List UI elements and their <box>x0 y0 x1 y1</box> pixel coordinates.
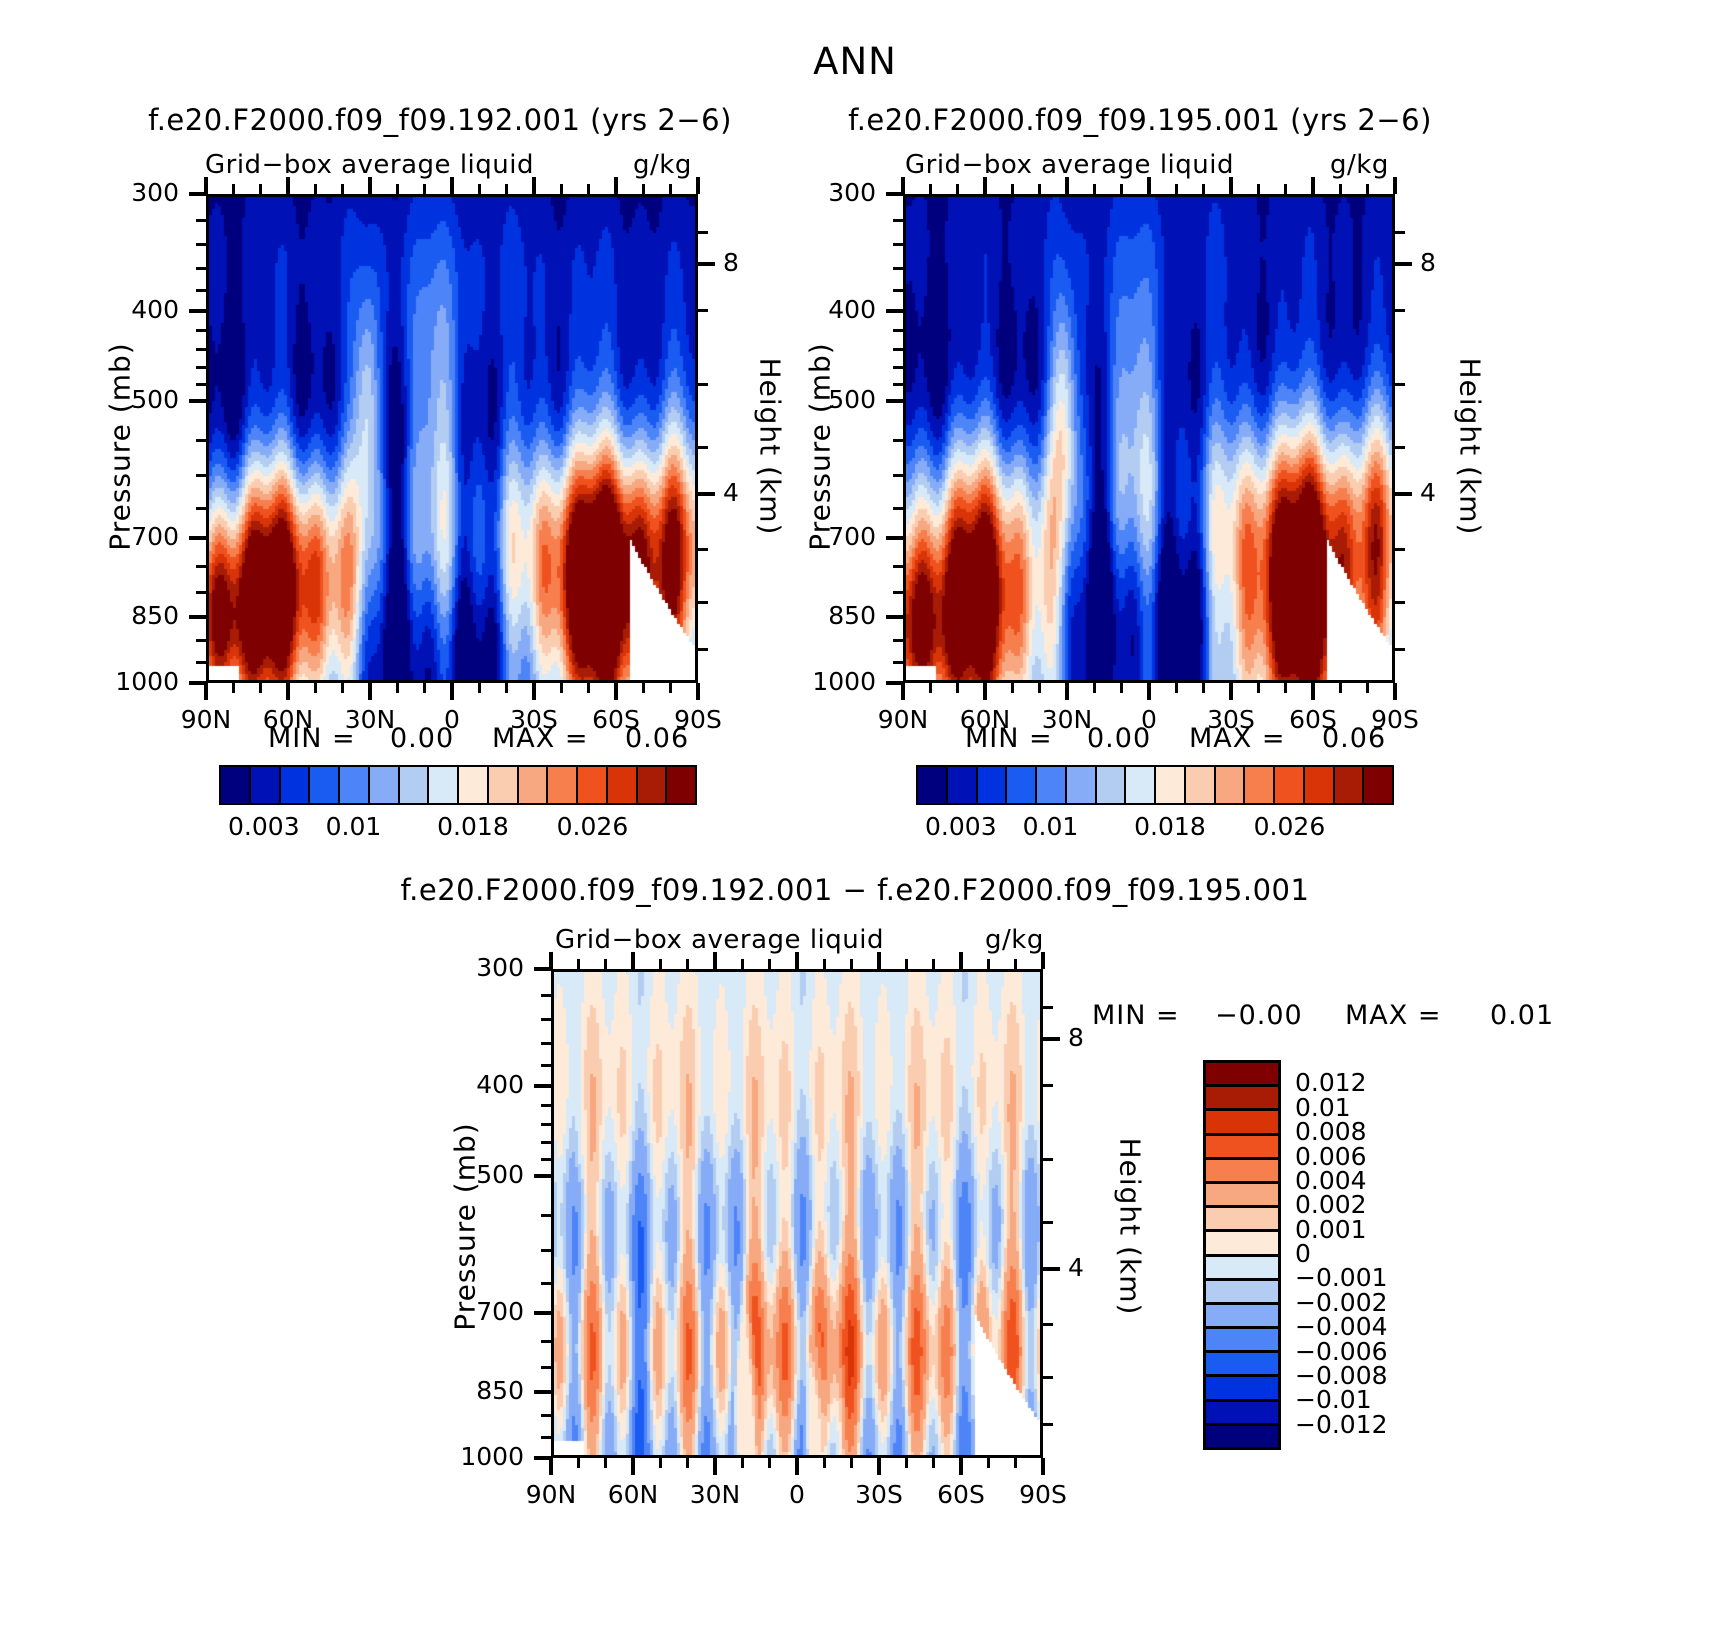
axis-tick <box>534 1084 551 1088</box>
right-panel-min-value: 0.00 <box>1087 723 1151 754</box>
legend-swatch <box>1206 1329 1278 1353</box>
axis-tick <box>893 289 903 292</box>
axis-tick <box>1043 1376 1053 1379</box>
axis-tick <box>1393 683 1397 700</box>
axis-tick <box>396 184 399 194</box>
axis-tick <box>196 267 206 270</box>
axis-tick <box>1311 177 1315 194</box>
axis-tick <box>686 959 689 969</box>
axis-tick <box>823 959 826 969</box>
axis-tick <box>541 1042 551 1045</box>
axis-tick <box>196 439 206 442</box>
axis-tick <box>893 439 903 442</box>
axis-tick <box>1202 184 1205 194</box>
axis-tick <box>1093 683 1096 693</box>
axis-tick <box>450 177 454 194</box>
axis-tick <box>541 1340 551 1343</box>
axis-tick-label: 1000 <box>115 667 179 696</box>
axis-tick <box>741 1458 744 1468</box>
legend-swatch <box>1206 1377 1278 1401</box>
right-panel-min-label: MIN = <box>965 723 1053 754</box>
diff-panel-max-label: MAX = <box>1345 1000 1441 1031</box>
axis-tick <box>893 243 903 246</box>
axis-tick <box>189 536 206 540</box>
left-panel-contour-plot <box>206 194 698 683</box>
axis-tick-label: 0.01 <box>1023 812 1079 841</box>
axis-tick <box>669 184 672 194</box>
axis-tick <box>560 683 563 693</box>
axis-tick <box>541 1141 551 1144</box>
axis-tick-label: 400 <box>828 295 876 324</box>
right-panel-colorbar <box>916 765 1394 805</box>
axis-tick <box>196 348 206 351</box>
axis-tick <box>850 1458 853 1468</box>
colorbar-swatch <box>1186 767 1216 803</box>
right-panel-units: g/kg <box>1330 150 1389 180</box>
axis-tick-label: 4 <box>723 478 739 507</box>
axis-tick-label: 4 <box>1068 1253 1084 1282</box>
axis-tick <box>1395 262 1412 266</box>
axis-tick <box>1284 683 1287 693</box>
diff-panel-legend-colorbar <box>1203 1060 1281 1450</box>
axis-tick <box>541 1414 551 1417</box>
axis-tick <box>196 565 206 568</box>
axis-tick <box>741 959 744 969</box>
colorbar-swatch <box>918 767 948 803</box>
axis-tick-label: 300 <box>828 178 876 207</box>
axis-tick <box>1366 683 1369 693</box>
axis-tick <box>1043 1423 1053 1426</box>
colorbar-swatch <box>608 767 638 803</box>
colorbar-swatch <box>667 767 695 803</box>
diff-panel-y2label: Height (km) <box>1114 1097 1147 1357</box>
axis-tick <box>396 683 399 693</box>
axis-tick <box>795 1458 799 1475</box>
axis-tick <box>1043 1037 1060 1041</box>
right-panel-y2label: Height (km) <box>1454 317 1487 577</box>
colorbar-swatch <box>1007 767 1037 803</box>
axis-tick <box>795 952 799 969</box>
axis-tick <box>631 1458 635 1475</box>
axis-tick <box>698 231 708 234</box>
axis-tick <box>196 383 206 386</box>
axis-tick <box>1038 683 1041 693</box>
axis-tick <box>886 399 903 403</box>
axis-tick <box>259 184 262 194</box>
axis-tick-label: 8 <box>1420 248 1436 277</box>
colorbar-swatch <box>281 767 311 803</box>
axis-tick <box>893 507 903 510</box>
legend-swatch <box>1206 1426 1278 1447</box>
axis-tick <box>196 329 206 332</box>
axis-tick <box>196 243 206 246</box>
axis-tick <box>698 548 708 551</box>
legend-swatch <box>1206 1208 1278 1232</box>
axis-tick <box>1395 601 1405 604</box>
axis-tick-label: 850 <box>828 601 876 630</box>
axis-tick <box>1395 648 1405 651</box>
axis-tick <box>1366 184 1369 194</box>
axis-tick <box>959 952 963 969</box>
axis-tick <box>604 959 607 969</box>
axis-tick <box>932 959 935 969</box>
axis-tick-label: 90N <box>181 705 232 734</box>
axis-tick-label: 300 <box>476 953 524 982</box>
axis-tick <box>713 952 717 969</box>
colorbar-swatch <box>1305 767 1335 803</box>
axis-tick <box>905 1458 908 1468</box>
axis-tick-label: 90N <box>878 705 929 734</box>
axis-tick <box>1014 959 1017 969</box>
colorbar-swatch <box>978 767 1008 803</box>
axis-tick <box>541 1366 551 1369</box>
axis-tick <box>893 661 903 664</box>
colorbar-swatch <box>340 767 370 803</box>
axis-tick <box>534 1390 551 1394</box>
axis-tick <box>541 1123 551 1126</box>
colorbar-swatch <box>1364 767 1392 803</box>
axis-tick <box>1065 177 1069 194</box>
axis-tick <box>698 492 715 496</box>
contour-canvas <box>903 194 1395 683</box>
axis-tick-label: 1000 <box>812 667 876 696</box>
axis-tick <box>534 1311 551 1315</box>
axis-tick <box>1339 683 1342 693</box>
left-panel-units: g/kg <box>633 150 692 180</box>
colorbar-swatch <box>948 767 978 803</box>
axis-tick <box>604 1458 607 1468</box>
axis-tick <box>541 1282 551 1285</box>
axis-tick <box>1120 683 1123 693</box>
diff-panel-title: f.e20.F2000.f09_f09.192.001 − f.e20.F200… <box>155 873 1555 907</box>
axis-tick-label: 850 <box>131 601 179 630</box>
right-panel-contour-plot <box>903 194 1395 683</box>
axis-tick-label: 30N <box>690 1480 741 1509</box>
left-panel-max-label: MAX = <box>492 723 588 754</box>
colorbar-swatch <box>1037 767 1067 803</box>
axis-tick <box>541 1249 551 1252</box>
legend-swatch <box>1206 1281 1278 1305</box>
axis-tick-label: 500 <box>828 385 876 414</box>
left-panel-y2label: Height (km) <box>754 317 787 577</box>
axis-tick-label: 0.018 <box>1134 812 1206 841</box>
axis-tick <box>893 639 903 642</box>
axis-tick-label: 0.01 <box>326 812 382 841</box>
figure-suptitle: ANN <box>0 40 1710 83</box>
axis-tick <box>1202 683 1205 693</box>
axis-tick <box>987 959 990 969</box>
axis-tick-label: 0.003 <box>925 812 997 841</box>
axis-tick <box>1038 184 1041 194</box>
colorbar-swatch <box>1097 767 1127 803</box>
axis-tick <box>1043 1221 1053 1224</box>
axis-tick <box>314 184 317 194</box>
colorbar-swatch <box>548 767 578 803</box>
colorbar-swatch <box>1126 767 1156 803</box>
left-panel-colorbar <box>219 765 697 805</box>
axis-tick <box>614 177 618 194</box>
axis-tick <box>698 383 708 386</box>
axis-tick <box>987 1458 990 1468</box>
axis-tick <box>698 309 708 312</box>
axis-tick <box>423 184 426 194</box>
axis-tick <box>1257 184 1260 194</box>
colorbar-swatch <box>429 767 459 803</box>
axis-tick <box>1284 184 1287 194</box>
axis-tick <box>541 1064 551 1067</box>
axis-tick <box>1395 492 1412 496</box>
axis-tick <box>893 565 903 568</box>
axis-tick <box>196 639 206 642</box>
axis-tick <box>204 177 208 194</box>
axis-tick <box>886 536 903 540</box>
axis-tick <box>929 184 932 194</box>
axis-tick-label: 0.003 <box>228 812 300 841</box>
colorbar-swatch <box>400 767 430 803</box>
axis-tick-label: 4 <box>1420 478 1436 507</box>
axis-tick <box>956 184 959 194</box>
axis-tick <box>1011 184 1014 194</box>
axis-tick <box>541 1214 551 1217</box>
colorbar-swatch <box>310 767 340 803</box>
axis-tick <box>541 1018 551 1021</box>
axis-tick <box>532 177 536 194</box>
axis-tick <box>768 1458 771 1468</box>
axis-tick <box>587 184 590 194</box>
axis-tick <box>642 184 645 194</box>
axis-tick <box>698 601 708 604</box>
axis-tick <box>956 683 959 693</box>
axis-tick <box>1041 952 1045 969</box>
left-panel-min-value: 0.00 <box>390 723 454 754</box>
axis-tick <box>901 177 905 194</box>
axis-tick-label: 60N <box>608 1480 659 1509</box>
axis-tick <box>196 474 206 477</box>
axis-tick <box>478 184 481 194</box>
axis-tick-label: 90N <box>526 1480 577 1509</box>
axis-tick-label: 400 <box>131 295 179 324</box>
axis-tick-label: 0.026 <box>1254 812 1326 841</box>
axis-tick <box>823 1458 826 1468</box>
axis-tick <box>698 446 708 449</box>
axis-tick <box>886 615 903 619</box>
axis-tick <box>631 952 635 969</box>
axis-tick <box>893 329 903 332</box>
right-panel-var-label: Grid−box average liquid <box>905 150 1234 180</box>
axis-tick-label: 700 <box>828 522 876 551</box>
axis-tick <box>1014 1458 1017 1468</box>
legend-swatch <box>1206 1402 1278 1426</box>
axis-tick <box>1229 177 1233 194</box>
axis-tick <box>1395 383 1405 386</box>
axis-tick <box>196 507 206 510</box>
axis-tick <box>893 383 903 386</box>
axis-tick-label: 300 <box>131 178 179 207</box>
diff-panel-contour-plot <box>551 969 1043 1458</box>
axis-tick <box>577 1458 580 1468</box>
axis-tick <box>1011 683 1014 693</box>
axis-tick-label: 700 <box>476 1297 524 1326</box>
axis-tick-label: 700 <box>131 522 179 551</box>
axis-tick-label: 30S <box>855 1480 903 1509</box>
axis-tick <box>1311 683 1315 700</box>
axis-tick <box>189 399 206 403</box>
axis-tick <box>659 1458 662 1468</box>
axis-tick-label: 400 <box>476 1070 524 1099</box>
colorbar-swatch <box>459 767 489 803</box>
axis-tick-label: −0.012 <box>1295 1410 1388 1439</box>
axis-tick <box>232 683 235 693</box>
axis-tick <box>505 683 508 693</box>
legend-swatch <box>1206 1111 1278 1135</box>
axis-tick <box>696 177 700 194</box>
axis-tick <box>314 683 317 693</box>
legend-swatch <box>1206 1184 1278 1208</box>
axis-tick <box>893 474 903 477</box>
axis-tick <box>1043 1323 1053 1326</box>
axis-tick <box>450 683 454 700</box>
colorbar-swatch <box>221 767 251 803</box>
legend-swatch <box>1206 1353 1278 1377</box>
axis-tick <box>1065 683 1069 700</box>
axis-tick <box>1175 683 1178 693</box>
axis-tick <box>204 683 208 700</box>
axis-tick-label: 850 <box>476 1376 524 1405</box>
right-panel-title: f.e20.F2000.f09_f09.195.001 (yrs 2−6) <box>760 103 1520 137</box>
axis-tick <box>713 1458 717 1475</box>
right-panel-max-label: MAX = <box>1189 723 1285 754</box>
axis-tick <box>696 683 700 700</box>
axis-tick <box>549 1458 553 1475</box>
axis-tick <box>698 262 715 266</box>
axis-tick <box>196 366 206 369</box>
axis-tick <box>587 683 590 693</box>
axis-tick <box>1093 184 1096 194</box>
axis-tick <box>196 661 206 664</box>
axis-tick <box>1229 683 1233 700</box>
axis-tick <box>893 348 903 351</box>
axis-tick <box>532 683 536 700</box>
axis-tick <box>1043 1158 1053 1161</box>
axis-tick <box>983 177 987 194</box>
axis-tick <box>642 683 645 693</box>
axis-tick-label: 500 <box>131 385 179 414</box>
axis-tick <box>232 184 235 194</box>
legend-swatch <box>1206 1305 1278 1329</box>
axis-tick <box>929 683 932 693</box>
legend-swatch <box>1206 1232 1278 1256</box>
axis-tick <box>196 591 206 594</box>
axis-tick <box>549 952 553 969</box>
axis-tick <box>189 615 206 619</box>
diff-panel-var-label: Grid−box average liquid <box>555 925 884 955</box>
axis-tick <box>577 959 580 969</box>
axis-tick <box>286 683 290 700</box>
contour-canvas <box>551 969 1043 1458</box>
colorbar-swatch <box>638 767 668 803</box>
axis-tick <box>541 1436 551 1439</box>
axis-tick-label: 60S <box>937 1480 985 1509</box>
colorbar-swatch <box>370 767 400 803</box>
axis-tick <box>850 959 853 969</box>
axis-tick <box>877 1458 881 1475</box>
axis-tick <box>341 683 344 693</box>
colorbar-swatch <box>1335 767 1365 803</box>
legend-swatch <box>1206 1160 1278 1184</box>
axis-tick <box>1395 231 1405 234</box>
colorbar-swatch <box>1156 767 1186 803</box>
axis-tick <box>1395 548 1405 551</box>
axis-tick <box>560 184 563 194</box>
legend-swatch <box>1206 1063 1278 1087</box>
diff-panel-min-label: MIN = <box>1092 1000 1180 1031</box>
axis-tick <box>1395 309 1405 312</box>
axis-tick <box>893 219 903 222</box>
axis-tick <box>1043 1006 1053 1009</box>
axis-tick <box>893 267 903 270</box>
contour-canvas <box>206 194 698 683</box>
colorbar-swatch <box>1245 767 1275 803</box>
axis-tick <box>259 683 262 693</box>
axis-tick <box>341 184 344 194</box>
axis-tick <box>541 994 551 997</box>
axis-tick <box>196 289 206 292</box>
axis-tick-label: 90S <box>1019 1480 1067 1509</box>
axis-tick <box>189 309 206 313</box>
axis-tick <box>893 366 903 369</box>
diff-panel-min-value: −0.00 <box>1215 1000 1303 1031</box>
axis-tick <box>368 683 372 700</box>
colorbar-swatch <box>489 767 519 803</box>
axis-tick <box>1147 683 1151 700</box>
axis-tick <box>893 591 903 594</box>
axis-tick <box>505 184 508 194</box>
left-panel-var-label: Grid−box average liquid <box>205 150 534 180</box>
axis-tick <box>1175 184 1178 194</box>
axis-tick <box>886 309 903 313</box>
axis-tick-label: 0.018 <box>437 812 509 841</box>
axis-tick <box>1043 1267 1060 1271</box>
axis-tick <box>1120 184 1123 194</box>
axis-tick <box>1257 683 1260 693</box>
axis-tick <box>669 683 672 693</box>
axis-tick <box>768 959 771 969</box>
diff-panel-units: g/kg <box>985 925 1044 955</box>
axis-tick <box>614 683 618 700</box>
axis-tick <box>1339 184 1342 194</box>
axis-tick <box>541 1104 551 1107</box>
axis-tick <box>901 683 905 700</box>
left-panel-title: f.e20.F2000.f09_f09.192.001 (yrs 2−6) <box>60 103 820 137</box>
legend-swatch <box>1206 1087 1278 1111</box>
axis-tick <box>877 952 881 969</box>
left-panel-max-value: 0.06 <box>625 723 689 754</box>
colorbar-swatch <box>1275 767 1305 803</box>
axis-tick <box>983 683 987 700</box>
colorbar-swatch <box>519 767 549 803</box>
axis-tick <box>1043 1084 1053 1087</box>
legend-swatch <box>1206 1136 1278 1160</box>
legend-swatch <box>1206 1257 1278 1281</box>
axis-tick <box>368 177 372 194</box>
axis-tick <box>659 959 662 969</box>
axis-tick <box>196 219 206 222</box>
axis-tick <box>1147 177 1151 194</box>
colorbar-swatch <box>578 767 608 803</box>
axis-tick-label: 0.026 <box>557 812 629 841</box>
colorbar-swatch <box>1067 767 1097 803</box>
colorbar-swatch <box>1216 767 1246 803</box>
